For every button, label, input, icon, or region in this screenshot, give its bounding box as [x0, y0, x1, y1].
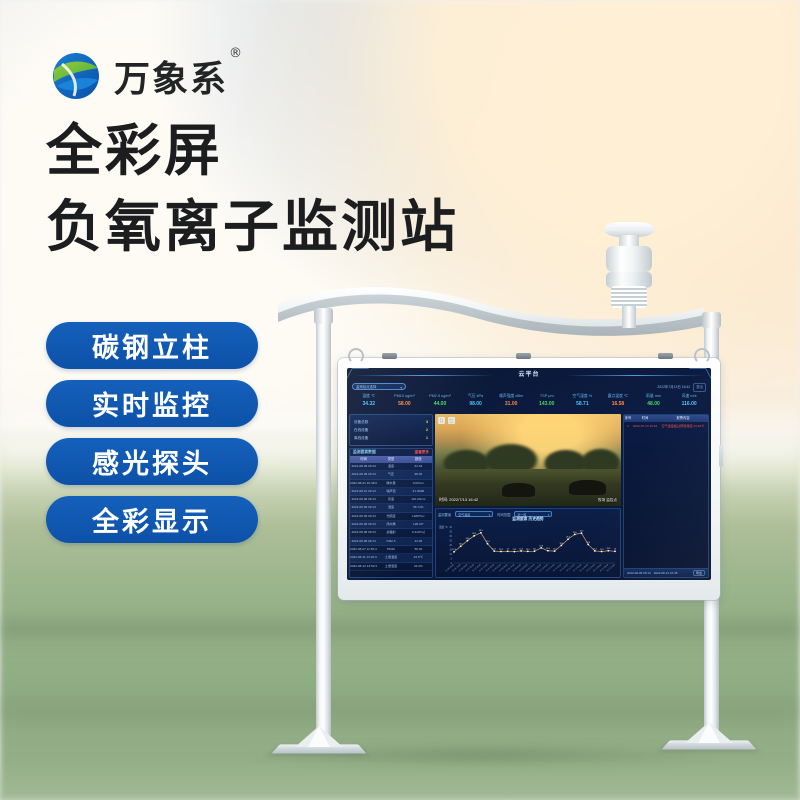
- dashboard-title: 云平台: [347, 369, 711, 378]
- table-cell: 土壤温度: [377, 554, 404, 561]
- metric-6: 空气湿度 %58.71: [565, 392, 601, 413]
- metric-label: 露点温度 ℃: [600, 392, 636, 400]
- trend-chart-panel: 监测要素空气温度▾时间范围近一周▾ 监测要素 历史趋势 051015202530…: [435, 508, 621, 578]
- trend-line-chart: 0510152025303540温度 ℃12.407-06 08:0018.60…: [438, 524, 618, 575]
- table-cell: 风速: [377, 496, 404, 503]
- alarm-table-header: 序号时间报警内容: [624, 415, 708, 422]
- svg-text:18.6: 18.6: [459, 544, 463, 546]
- camera-controls[interactable]: ⛶ ⬚: [438, 417, 455, 424]
- chart-filter-label-1: 时间范围: [497, 512, 510, 517]
- device-stat-2: 离线设备1: [354, 434, 428, 442]
- dashboard-datetime-group: 2022年7月13日 16:42 退出: [657, 383, 706, 392]
- device-stat-value: 3: [426, 418, 428, 426]
- table-cell: 总辐射: [377, 529, 404, 536]
- alarm-footer: 2022-08-09 09:13 2022-08-21 10:48 导出: [624, 568, 708, 577]
- svg-text:13.4: 13.4: [519, 548, 523, 550]
- dashboard-header: 云平台: [347, 368, 711, 383]
- left-base-foot: [276, 722, 362, 756]
- device-stat-0: 设备总数3: [354, 418, 428, 426]
- svg-text:13.2: 13.2: [492, 549, 496, 551]
- product-marketing-image: 万象系 ® 全彩屏 负氧离子监测站 碳钢立柱 实时监控 感光探头 全彩显示: [0, 0, 800, 800]
- dashboard-datetime: 2022年7月13日 16:42: [657, 384, 690, 391]
- left-base-gusset-inner: [308, 726, 330, 747]
- svg-text:12.6: 12.6: [513, 549, 517, 551]
- station-selector[interactable]: 监测站点选择 ▾: [352, 383, 406, 390]
- table-cell: 温度: [377, 463, 404, 470]
- table-cell: 2022-08-12 13:52:46: [350, 563, 377, 570]
- bottom-fade: [0, 760, 800, 800]
- table-cell: 2022-08-08 08:13: [350, 496, 377, 503]
- metric-strip: 温度 ℃34.32PM10 ug/m³58.00PM2.5 ug/m³44.00…: [349, 392, 709, 413]
- table-row[interactable]: 2022-08-08 08:13总辐射0.41W/㎡: [350, 529, 432, 537]
- table-row[interactable]: 2022-08-08 08:13风向角128.00°: [350, 521, 432, 529]
- data-table-header: 时间类型数值: [350, 456, 432, 463]
- metric-7: 露点温度 ℃16.58: [600, 392, 636, 413]
- table-cell: PM10: [377, 546, 404, 553]
- exit-button[interactable]: 退出: [693, 383, 706, 392]
- dashboard-body: 设备总数3在线设备2离线设备1 监测要素数据 查看更多 时间类型数值 2022-…: [349, 414, 709, 578]
- table-row[interactable]: 2022-08-11 13:20:36土壤温度23.8℃: [350, 554, 432, 562]
- device-stat-value: 2: [426, 426, 428, 434]
- svg-text:12.4: 12.4: [452, 549, 456, 551]
- table-cell: 光照度: [377, 513, 404, 520]
- svg-text:12.9: 12.9: [526, 549, 530, 551]
- metric-label: 温度 ℃: [351, 392, 387, 400]
- chart-filter-label-0: 监测要素: [438, 512, 451, 517]
- table-cell: 风向角: [377, 521, 404, 528]
- device-stat-label: 在线设备: [354, 426, 368, 434]
- metric-value: 44.00: [422, 400, 458, 409]
- table-cell: 58.00: [405, 546, 432, 553]
- device-stat-1: 在线设备2: [354, 426, 428, 434]
- metric-label: PM2.5 ug/m³: [422, 392, 458, 400]
- sensor-radiation-shield: [611, 286, 647, 308]
- svg-text:35: 35: [449, 531, 452, 534]
- svg-text:温度 ℃: 温度 ℃: [439, 525, 448, 529]
- monitoring-station-product: 云平台 监测站点选择 ▾ 2022年7月13日 16:42 退出 温度 ℃34.…: [0, 0, 800, 800]
- fullscreen-icon[interactable]: ⛶: [438, 417, 445, 424]
- svg-text:13.4: 13.4: [593, 548, 597, 550]
- sensor-body-upper: [606, 246, 652, 272]
- table-cell: 58.71%: [405, 504, 432, 511]
- svg-text:12.8: 12.8: [600, 549, 604, 551]
- svg-text:26.4: 26.4: [566, 537, 570, 539]
- table-cell: 0.00mm: [405, 480, 432, 487]
- metric-value: 98.00: [458, 400, 494, 409]
- table-cell: 31.00dB: [405, 488, 432, 495]
- metric-value: 16.58: [600, 400, 636, 409]
- metric-8: 雨量 mm48.00: [636, 392, 672, 413]
- metric-value: 58.00: [387, 400, 423, 409]
- alarm-column-header: 报警内容: [658, 415, 708, 422]
- device-stats-panel: 设备总数3在线设备2离线设备1: [349, 414, 433, 446]
- metric-value: 34.32: [351, 400, 387, 409]
- svg-text:20: 20: [449, 544, 452, 547]
- table-row[interactable]: 2022-08-09 09:13光照度12807lux: [350, 513, 432, 521]
- cabinet-side-latch: [719, 445, 723, 467]
- table-cell: 2022-08-09 09:13: [350, 463, 377, 470]
- svg-text:24.8: 24.8: [466, 538, 470, 540]
- data-table-body: 2022-08-09 09:13温度34.322022-08-09 09:13气…: [350, 463, 432, 571]
- table-cell: 44.00: [405, 538, 432, 545]
- svg-text:30: 30: [449, 535, 452, 538]
- metric-1: PM10 ug/m³58.00: [387, 392, 423, 413]
- metric-value: 116.00: [671, 400, 707, 409]
- table-row[interactable]: 2022-08-21 10:48:08降水量0.00mm: [350, 480, 432, 488]
- table-cell: 2022-08-08 08:13: [350, 538, 377, 545]
- table-row[interactable]: 2022-08-09 09:13气压98.00: [350, 471, 432, 479]
- table-cell: 116.00m/s: [405, 496, 432, 503]
- table-cell: 2022-08-08 08:13: [350, 521, 377, 528]
- metric-label: 噪声强度 dBm: [493, 392, 529, 400]
- camera-feed[interactable]: ⛶ ⬚ 时间: 2022/7/13 16:42 牧场 监控点: [435, 414, 621, 506]
- alarm-panel-inner: 序号时间报警内容 12022-07-13 16:42空气温度超过预警阈值 34.…: [624, 415, 708, 577]
- station-selector-value: 监测站点选择: [356, 385, 376, 389]
- svg-text:13.2: 13.2: [553, 549, 557, 551]
- metric-9: 风速 m/s116.00: [671, 392, 707, 413]
- data-table-title: 监测要素数据: [353, 450, 376, 455]
- middle-column: ⛶ ⬚ 时间: 2022/7/13 16:42 牧场 监控点 监测要素空气温度▾…: [435, 414, 621, 578]
- svg-text:31.8: 31.8: [573, 532, 577, 534]
- svg-text:12.8: 12.8: [499, 549, 503, 551]
- table-cell: PM2.5: [377, 538, 404, 545]
- svg-text:13.1: 13.1: [533, 549, 537, 551]
- alarm-panel[interactable]: 序号时间报警内容 12022-07-13 16:42空气温度超过预警阈值 34.…: [623, 414, 709, 578]
- camera-timestamp: 时间: 2022/7/13 16:42: [439, 497, 478, 503]
- camera-channel-tag: 牧场 监控点: [598, 498, 617, 503]
- mount-bracket-1: [382, 353, 397, 359]
- data-table-column-header: 类型: [377, 456, 404, 463]
- table-cell: 34.0%: [405, 563, 432, 570]
- metric-value: 58.71: [565, 400, 601, 409]
- alarm-cell: 2022-07-13 16:42: [632, 423, 658, 430]
- metric-label: 风速 m/s: [671, 392, 707, 400]
- monitoring-data-table[interactable]: 监测要素数据 查看更多 时间类型数值 2022-08-09 09:13温度34.…: [349, 448, 433, 578]
- table-row[interactable]: 2022-08-12 13:52:46土壤湿度34.0%: [350, 563, 432, 571]
- svg-text:5: 5: [451, 558, 453, 561]
- ultrasonic-weather-sensor-icon: [598, 222, 660, 314]
- table-row[interactable]: 2022-08-08 08:13风速116.00m/s: [350, 496, 432, 504]
- display-cabinet: 云平台 监测站点选择 ▾ 2022年7月13日 16:42 退出 温度 ℃34.…: [338, 358, 720, 600]
- lift-hook-left: [348, 348, 364, 364]
- alarm-footer-end: 2022-08-21 10:48: [654, 571, 678, 575]
- svg-text:13: 13: [614, 549, 616, 551]
- svg-text:10: 10: [449, 553, 452, 556]
- alarm-column-header: 序号: [624, 415, 632, 422]
- table-cell: 2022-08-09 09:13: [350, 513, 377, 520]
- table-row[interactable]: 2022-08-09 09:13温度34.32: [350, 463, 432, 471]
- svg-text:21.4: 21.4: [486, 541, 490, 543]
- metric-label: PM10 ug/m³: [387, 392, 423, 400]
- alarm-cell: 空气温度超过预警阈值 34.32℃: [658, 423, 708, 430]
- metric-2: PM2.5 ug/m³44.00: [422, 392, 458, 413]
- table-cell: 2022-08-09 09:13: [350, 471, 377, 478]
- table-cell: 土壤湿度: [377, 563, 404, 570]
- table-row[interactable]: 2022-08-08 08:13PM2.544.00: [350, 538, 432, 546]
- table-cell: 34.32: [405, 463, 432, 470]
- table-cell: 2022-08-07 11:50:47: [350, 546, 377, 553]
- camera-tree-2: [483, 443, 539, 471]
- svg-text:20.6: 20.6: [586, 542, 590, 544]
- svg-text:13.6: 13.6: [606, 548, 610, 550]
- svg-text:40: 40: [449, 526, 452, 529]
- table-cell: 降水量: [377, 480, 404, 487]
- metric-label: 雨量 mm: [636, 392, 672, 400]
- table-cell: 噪声值: [377, 488, 404, 495]
- metric-label: 空气湿度 %: [565, 392, 601, 400]
- alarm-column-header: 时间: [632, 415, 658, 422]
- data-table-more-link[interactable]: 查看更多: [415, 450, 429, 455]
- table-row[interactable]: 2022-08-07 11:50:47PM1058.00: [350, 546, 432, 554]
- mount-bracket-3: [658, 353, 673, 359]
- svg-text:16.8: 16.8: [539, 545, 543, 547]
- left-post: [316, 316, 331, 736]
- metric-label: TSP μm: [529, 392, 565, 400]
- table-cell: 0.41W/㎡: [405, 529, 432, 536]
- svg-text:13.6: 13.6: [546, 548, 550, 550]
- metric-0: 温度 ℃34.32: [351, 392, 387, 413]
- table-row[interactable]: 2022-08-09 09:13湿度58.71%: [350, 504, 432, 512]
- table-cell: 98.00: [405, 471, 432, 478]
- svg-text:13: 13: [507, 549, 509, 551]
- table-cell: 2022-08-08 08:13: [350, 529, 377, 536]
- table-cell: 23.8℃: [405, 554, 432, 561]
- data-table-column-header: 时间: [350, 456, 377, 463]
- right-column: 序号时间报警内容 12022-07-13 16:42空气温度超过预警阈值 34.…: [623, 414, 709, 578]
- table-cell: 128.00°: [405, 521, 432, 528]
- table-cell: 2022-08-21 10:48:08: [350, 480, 377, 487]
- alarm-table-body: 12022-07-13 16:42空气温度超过预警阈值 34.32℃: [624, 422, 708, 430]
- table-cell: 12807lux: [405, 513, 432, 520]
- right-base-foot: [666, 718, 752, 752]
- snapshot-icon[interactable]: ⬚: [448, 417, 455, 424]
- table-cell: 2022-08-21 09:13: [350, 488, 377, 495]
- table-cell: 湿度: [377, 504, 404, 511]
- chart-title: 监测要素 历史趋势: [436, 517, 620, 522]
- metric-5: TSP μm143.00: [529, 392, 565, 413]
- mount-bracket-2: [516, 353, 531, 359]
- alarm-cell: 1: [624, 423, 632, 430]
- metric-value: 48.00: [636, 400, 672, 409]
- table-row[interactable]: 2022-08-21 09:13噪声值31.00dB: [350, 488, 432, 496]
- svg-text:30.2: 30.2: [472, 533, 476, 535]
- svg-text:25: 25: [449, 540, 452, 543]
- sensor-stem: [622, 306, 636, 328]
- lift-hook-right: [694, 348, 710, 364]
- data-table-caption: 监测要素数据 查看更多: [350, 449, 432, 456]
- metric-3: 气压 kPa98.00: [458, 392, 494, 413]
- led-screen[interactable]: 云平台 监测站点选择 ▾ 2022年7月13日 16:42 退出 温度 ℃34.…: [347, 368, 711, 580]
- svg-text:19.6: 19.6: [559, 543, 563, 545]
- table-cell: 气压: [377, 471, 404, 478]
- left-post-cap: [314, 308, 333, 324]
- chevron-down-icon: ▾: [400, 385, 402, 392]
- device-stat-label: 离线设备: [354, 434, 368, 442]
- metric-value: 143.00: [529, 400, 565, 409]
- svg-text:33.6: 33.6: [479, 530, 483, 532]
- right-base-gusset-inner: [698, 722, 720, 743]
- right-post-cap: [702, 312, 721, 328]
- metric-label: 气压 kPa: [458, 392, 494, 400]
- metric-value: 31.00: [493, 400, 529, 409]
- table-cell: 2022-08-11 13:20:36: [350, 554, 377, 561]
- alarm-footer-start: 2022-08-09 09:13: [627, 571, 651, 575]
- alarm-export-button[interactable]: 导出: [693, 570, 705, 576]
- svg-text:33.2: 33.2: [580, 531, 584, 533]
- camera-subject-cow-1: [502, 483, 535, 497]
- device-stat-label: 设备总数: [354, 418, 368, 426]
- alarm-row[interactable]: 12022-07-13 16:42空气温度超过预警阈值 34.32℃: [624, 422, 708, 430]
- metric-4: 噪声强度 dBm31.00: [493, 392, 529, 413]
- device-stat-value: 1: [426, 434, 428, 442]
- camera-subject-cow-2: [569, 480, 606, 495]
- left-column: 设备总数3在线设备2离线设备1 监测要素数据 查看更多 时间类型数值 2022-…: [349, 414, 433, 578]
- table-cell: 2022-08-09 09:13: [350, 504, 377, 511]
- data-table-column-header: 数值: [405, 456, 432, 463]
